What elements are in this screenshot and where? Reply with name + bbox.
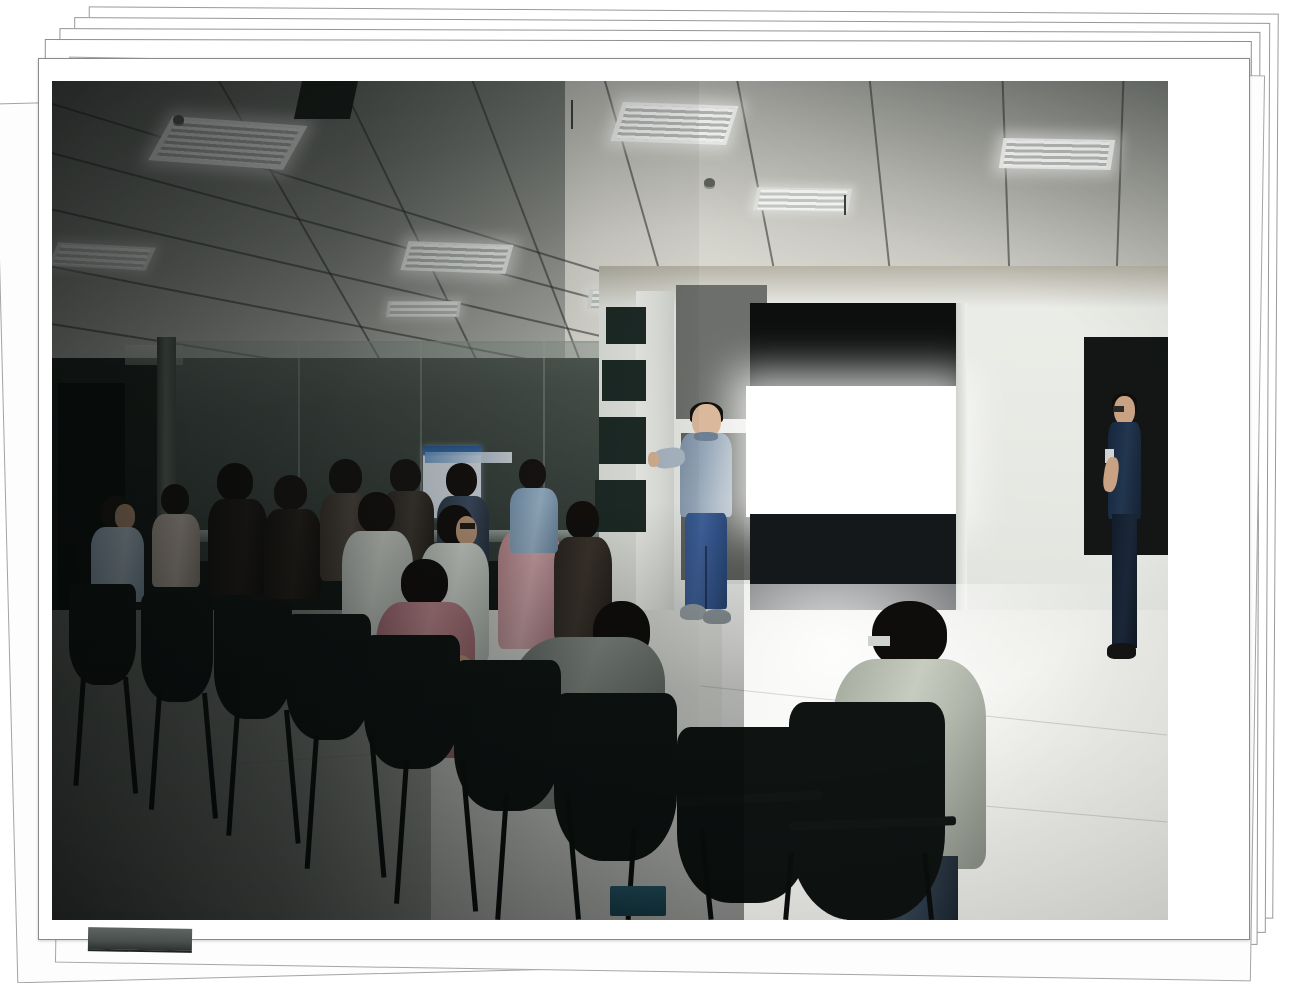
- folding-chair: [141, 593, 212, 702]
- head: [401, 559, 448, 607]
- floor-object: [610, 886, 666, 915]
- glasses-icon: [868, 636, 889, 646]
- folding-chair: [454, 660, 561, 811]
- face: [456, 516, 477, 546]
- head: [566, 501, 599, 540]
- audience-member: [152, 484, 203, 610]
- screen-frame-edge: [956, 303, 967, 613]
- glasses-icon: [460, 523, 474, 529]
- torso: [152, 514, 199, 587]
- smoke-detector-icon: [173, 115, 184, 124]
- underlying-photo-edge: [88, 927, 192, 953]
- head: [274, 475, 308, 510]
- observer-shoe: [1107, 643, 1136, 659]
- head: [358, 492, 395, 533]
- torso: [208, 499, 267, 595]
- presenter: [671, 404, 740, 626]
- photo-stack-stage: [0, 0, 1302, 983]
- dark-slat-panel: [602, 360, 646, 402]
- reflected-monitor-glare: [425, 452, 512, 463]
- ceiling-light-fixture: [610, 102, 738, 145]
- folding-chair: [286, 614, 371, 740]
- head: [161, 484, 190, 515]
- head: [390, 459, 421, 493]
- presenter-collar: [694, 432, 718, 441]
- ceiling-beam-dark: [294, 81, 358, 119]
- folding-chair: [364, 635, 460, 769]
- screen-dark-panel-top: [750, 303, 958, 389]
- presenter-hand: [648, 452, 659, 468]
- observer-trousers: [1112, 514, 1137, 648]
- projection-screen: [746, 386, 957, 517]
- head: [217, 463, 253, 501]
- torso: [264, 509, 321, 600]
- smoke-detector-icon: [704, 178, 715, 187]
- folding-chair-foreground: [789, 702, 945, 920]
- head: [446, 463, 477, 497]
- presenter-shoe-right: [703, 609, 731, 625]
- presenter-leg-seam: [705, 546, 707, 608]
- audience-member: [510, 459, 561, 576]
- folding-chair: [214, 601, 292, 718]
- face: [115, 504, 135, 528]
- photograph: [52, 81, 1168, 920]
- ceiling-light-fixture: [753, 188, 852, 213]
- glasses-icon: [1113, 406, 1124, 411]
- standing-observer: [1104, 396, 1144, 664]
- audience-member: [208, 463, 270, 622]
- ceiling-hanger: [571, 100, 573, 129]
- dark-slat-panel: [599, 417, 646, 464]
- ceiling-light-fixture: [998, 138, 1114, 170]
- folding-chair: [69, 584, 136, 685]
- ceiling-light-fixture: [52, 242, 156, 270]
- ceiling-hanger: [844, 195, 846, 215]
- dark-slat-panel: [606, 307, 646, 344]
- presenter-shirt: [680, 433, 731, 517]
- ceiling-light-fixture: [400, 241, 513, 273]
- head: [329, 459, 361, 495]
- ceiling-light-fixture: [386, 301, 461, 317]
- head: [519, 459, 547, 490]
- torso: [510, 488, 558, 553]
